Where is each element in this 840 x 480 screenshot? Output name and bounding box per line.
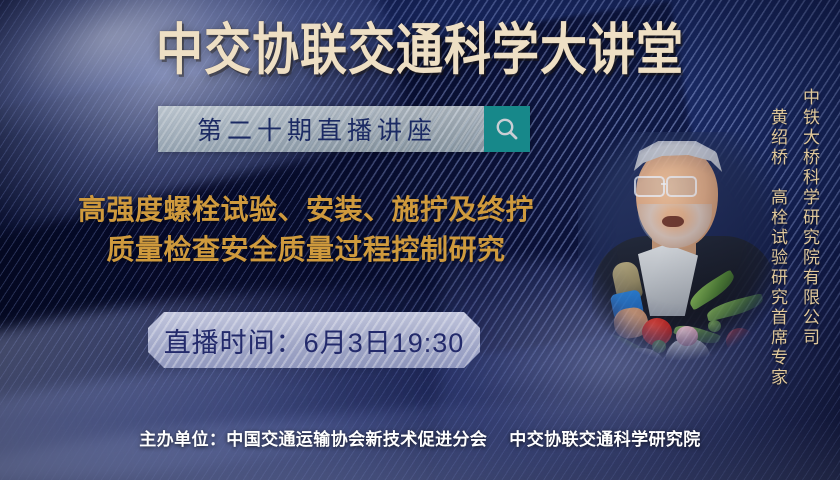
photo-glasses-bridge xyxy=(661,183,666,185)
photo-glasses-right xyxy=(666,176,697,197)
lecture-subtitle-line-1: 高强度螺栓试验、安装、施拧及终拧 xyxy=(6,190,606,230)
live-time-badge: 直播时间：6月3日19:30 xyxy=(148,312,480,368)
photo-mouth xyxy=(662,216,684,227)
photo-flower-white xyxy=(716,346,762,380)
search-icon xyxy=(494,116,520,142)
search-button[interactable] xyxy=(484,106,530,152)
photo-flower-pink xyxy=(676,326,698,346)
speaker-organization: 中铁大桥科学研究院有限公司 xyxy=(801,88,818,348)
footer-host: 主办单位：中国交通运输协会新技术促进分会 xyxy=(139,430,487,449)
lecture-subtitle: 高强度螺栓试验、安装、施拧及终拧 质量检查安全质量过程控制研究 xyxy=(6,190,606,270)
episode-search-bar[interactable]: 第二十期直播讲座 xyxy=(158,106,530,152)
live-time-text: 直播时间：6月3日19:30 xyxy=(164,321,465,360)
photo-foliage xyxy=(652,340,666,353)
footer-organizers: 主办单位：中国交通运输协会新技术促进分会中交协联交通科学研究院 xyxy=(0,425,840,450)
photo-foliage xyxy=(708,320,721,332)
footer-institute: 中交协联交通科学研究院 xyxy=(509,430,700,449)
speaker-name-and-role: 黄绍桥 高栓试验研究首席专家 xyxy=(769,108,786,388)
page-title: 中交协联交通科学大讲堂 xyxy=(0,16,840,84)
lecture-subtitle-line-2: 质量检查安全质量过程控制研究 xyxy=(6,230,606,270)
poster-canvas: 中交协联交通科学大讲堂 第二十期直播讲座 高强度螺栓试验、安装、施拧及终拧 质量… xyxy=(0,0,840,480)
photo-glasses-left xyxy=(634,176,665,197)
episode-label: 第二十期直播讲座 xyxy=(158,106,484,152)
speaker-photo xyxy=(578,132,790,380)
